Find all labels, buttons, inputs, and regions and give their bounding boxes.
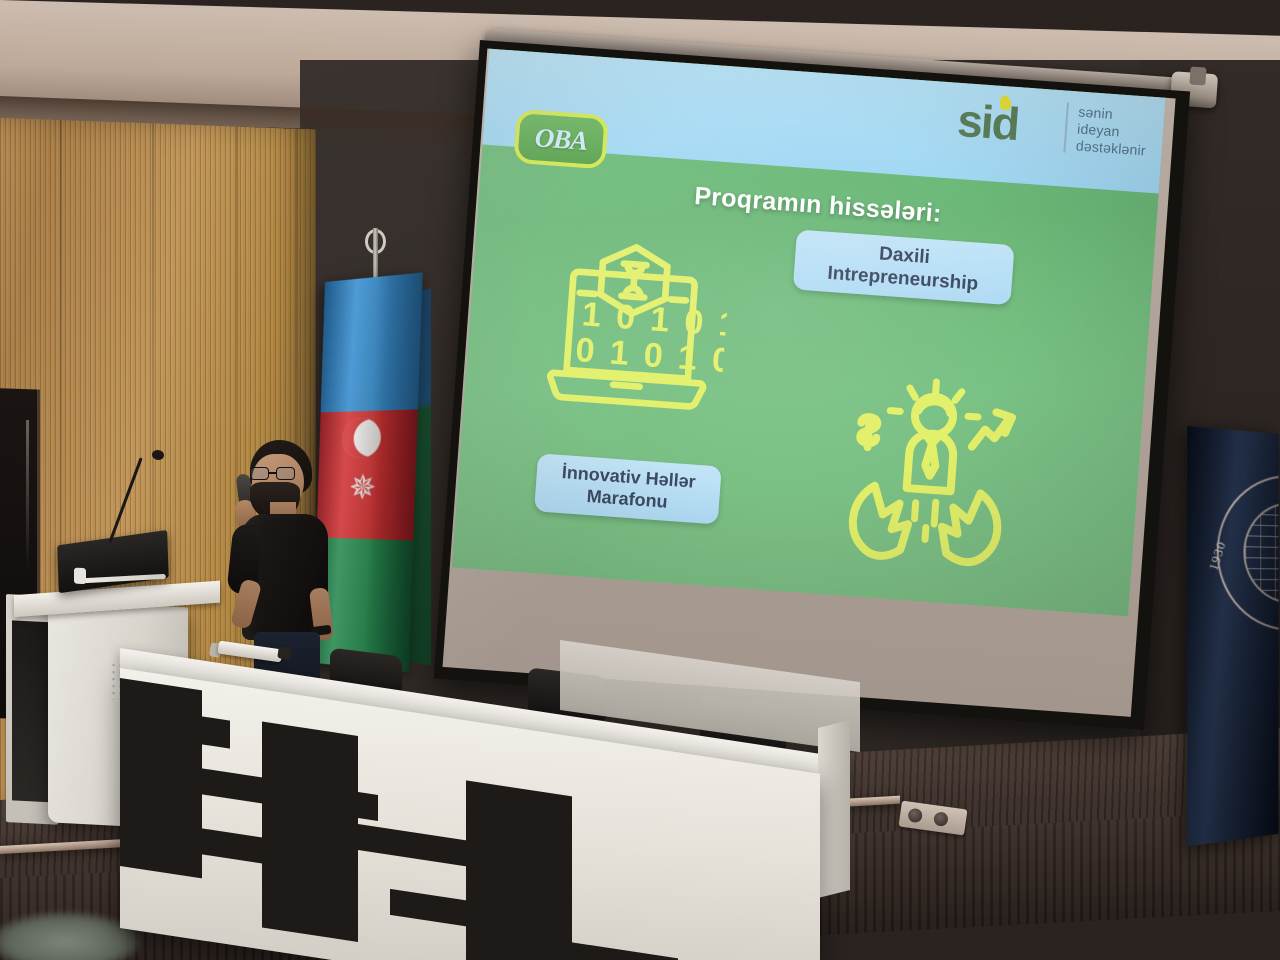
- entrepreneur-hatching-egg-icon: [831, 365, 1045, 579]
- presentation-slide: OBA sid sənin ideyan dəstəklənir Proqram…: [452, 49, 1166, 617]
- sid-tagline: sənin ideyan dəstəklənir: [1075, 103, 1148, 159]
- table-side-panel: [818, 720, 850, 898]
- chip-daxili-intrepreneurship[interactable]: Daxili Intrepreneurship: [793, 229, 1015, 305]
- oba-logo: OBA: [513, 109, 609, 170]
- chip-innovativ-heller-marafonu[interactable]: İnnovativ Həllər Marafonu: [534, 453, 722, 524]
- gooseneck-mic-head: [152, 450, 164, 461]
- conference-room-scene: OBA sid sənin ideyan dəstəklənir Proqram…: [0, 0, 1280, 960]
- oba-logo-text: OBA: [534, 122, 589, 157]
- glasses-icon: [250, 467, 296, 480]
- doorway-light-glint: [26, 420, 29, 570]
- laptop-binary-hourglass-icon: 1 0 1 0 1 0 1 0 1 0: [529, 231, 732, 434]
- lectern-knob[interactable]: [74, 568, 86, 585]
- sid-divider: [1063, 103, 1069, 153]
- university-flag: 1930: [1187, 426, 1278, 846]
- sid-tagline-line-3: dəstəklənir: [1075, 137, 1146, 159]
- sid-logo-mark: sid: [955, 91, 1057, 156]
- presenter-remote-tip: [277, 646, 292, 660]
